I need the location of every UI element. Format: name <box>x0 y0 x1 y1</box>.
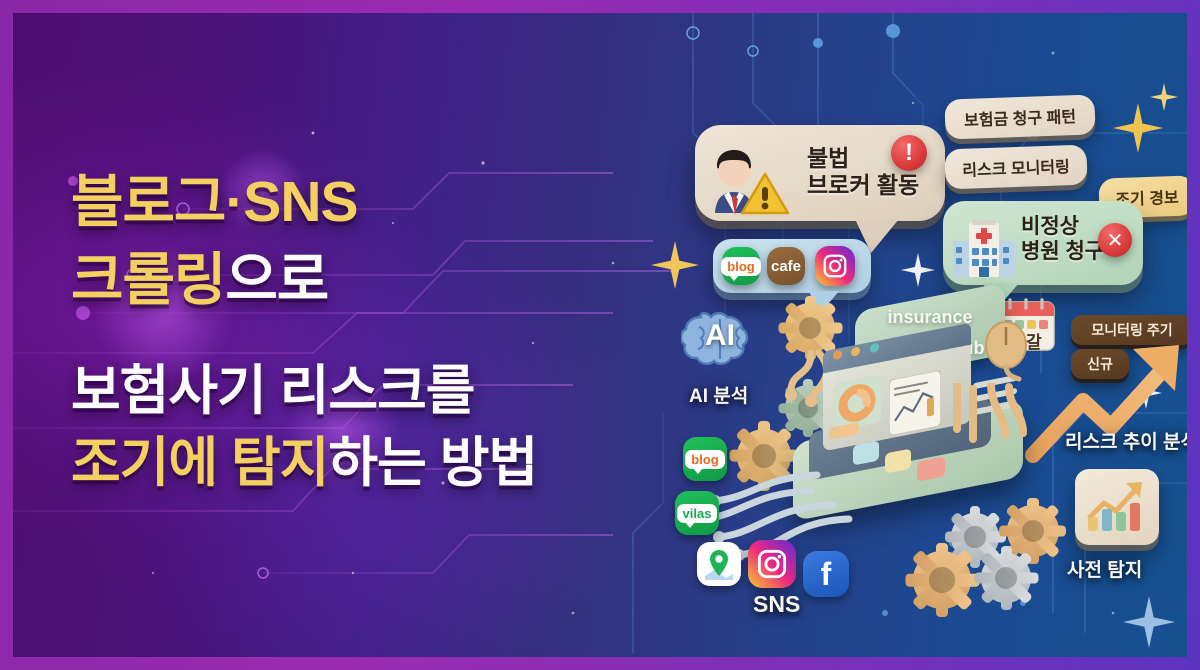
illegal-broker-bubble: ! 불법 브로커 활동 <box>695 125 945 221</box>
blog-icon[interactable]: blog <box>722 247 760 285</box>
headline-block: 블로그·SNS 크롤링으로 보험사기 리스크를 조기에 탐지하는 방법 <box>71 163 691 499</box>
ai-brain-icon: AI <box>681 309 759 371</box>
deny-cross-icon: ✕ <box>1098 223 1132 257</box>
vilas-app-label: vilas <box>677 504 718 523</box>
instagram-icon[interactable] <box>815 246 855 286</box>
caption-pre-detection: 사전 탐지 <box>1067 555 1142 582</box>
headline-line-2-gold: 크롤링 <box>71 248 225 312</box>
gear-bottom-tan-1 <box>1007 505 1059 557</box>
hospital-bubble-text: 비정상 병원 청구 <box>1021 215 1104 265</box>
tag-risk-monitoring[interactable]: 리스크 모니터링 <box>944 145 1087 190</box>
caption-ai-analysis: AI 분석 <box>689 381 748 408</box>
tag-claim-pattern-label: 보험금 청구 패턴 <box>964 103 1077 131</box>
broker-line-2: 브로커 활동 <box>807 172 919 199</box>
hub-line-chart <box>889 370 941 436</box>
facebook-app-icon[interactable]: f <box>803 551 849 597</box>
sparkle-blue-bottomright <box>1123 596 1175 648</box>
cafe-icon-label: cafe <box>771 258 801 275</box>
headline-line-4-white: 하는 방법 <box>328 433 537 493</box>
tag-risk-monitoring-label: 리스크 모니터링 <box>962 153 1070 181</box>
sparkle-white-mid <box>901 253 935 287</box>
social-channels-bubble: blog cafe <box>713 239 871 293</box>
broker-line-1: 불법 <box>807 145 919 172</box>
cafe-icon[interactable]: cafe <box>767 247 805 285</box>
caption-risk-trend: 리스크 추이 분석 <box>1065 427 1187 454</box>
blog-icon-label: blog <box>721 257 760 276</box>
hospital-icon <box>948 217 1020 281</box>
ai-brain-label: AI <box>681 319 759 353</box>
instagram-glyph <box>822 253 848 279</box>
blog-app-icon[interactable]: blog <box>683 437 727 481</box>
hospital-line-2: 병원 청구 <box>1021 240 1104 265</box>
hospital-line-1: 비정상 <box>1021 215 1104 240</box>
blog-app-label: blog <box>685 450 724 469</box>
hub-gold-pipes <box>943 383 1033 463</box>
deny-mark: ✕ <box>1107 228 1124 253</box>
headline-line-2-white: 으로 <box>225 248 328 312</box>
bar-chart-icon <box>1082 479 1152 537</box>
warning-triangle-icon <box>740 171 790 216</box>
instagram-app-icon[interactable] <box>748 540 796 588</box>
gear-bottom-silver-2 <box>981 553 1031 603</box>
headline-line-4-gold: 조기에 탐지 <box>71 433 328 493</box>
map-pin-glyph <box>704 548 734 580</box>
abnormal-hospital-bubble: 비정상 병원 청구 ✕ <box>943 201 1143 285</box>
sparkle-gold-left <box>651 241 699 289</box>
sparkle-gold-topright-small <box>1150 83 1178 111</box>
promo-banner: 블로그·SNS 크롤링으로 보험사기 리스크를 조기에 탐지하는 방법 <box>0 0 1200 670</box>
headline-line-3: 보험사기 리스크를 <box>71 355 691 427</box>
banner-canvas: 블로그·SNS 크롤링으로 보험사기 리스크를 조기에 탐지하는 방법 <box>13 13 1187 657</box>
vilas-app-icon[interactable]: vilas <box>675 491 719 535</box>
broker-bubble-text: 불법 브로커 활동 <box>807 145 919 199</box>
hub-dish-icon <box>979 321 1033 383</box>
map-pin-app-icon[interactable] <box>697 542 741 586</box>
headline-line-2: 크롤링으로 <box>71 241 691 319</box>
facebook-app-label: f <box>821 558 832 590</box>
tag-claim-pattern[interactable]: 보험금 청구 패턴 <box>944 94 1095 139</box>
pre-detection-card <box>1075 469 1159 545</box>
headline-line-1: 블로그·SNS <box>71 163 691 241</box>
instagram-app-glyph <box>756 548 788 580</box>
headline-line-4: 조기에 탐지하는 방법 <box>71 427 691 499</box>
caption-sns: SNS <box>753 591 800 618</box>
gear-bottom-tan-2 <box>913 551 971 609</box>
